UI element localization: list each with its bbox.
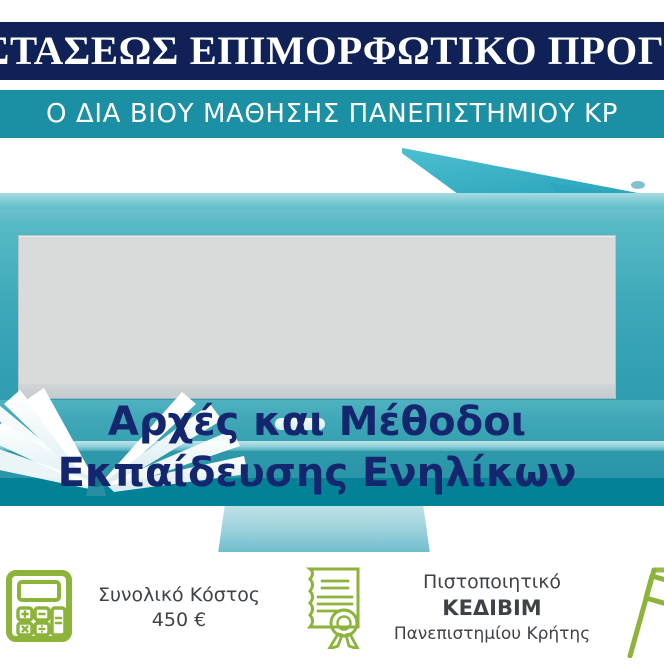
poster-root: ΟΣΤΑΣΕΩΣ ΕΠΙΜΟΡΦΩΤΙΚΟ ΠΡΟΓΡΑ Ο ΔΙΑ ΒΙΟΥ …	[0, 0, 664, 664]
navy-banner-text: ΟΣΤΑΣΕΩΣ ΕΠΙΜΟΡΦΩΤΙΚΟ ΠΡΟΓΡΑ	[0, 31, 664, 71]
certificate-label-top: Πιστοποιητικό	[370, 570, 614, 595]
total-cost-label: Συνολικό Κόστος	[74, 583, 284, 608]
monitor-top-gloss	[0, 193, 664, 209]
calculator-icon	[4, 569, 74, 647]
certificate-text-group: Πιστοποιητικό ΚΕΔΙΒΙΜ Πανεπιστημίου Κρήτ…	[370, 570, 614, 646]
feature-certificate: Πιστοποιητικό ΚΕΔΙΒΙΜ Πανεπιστημίου Κρήτ…	[296, 556, 614, 660]
teal-banner: Ο ΔΙΑ ΒΙΟΥ ΜΑΘΗΣΗΣ ΠΑΝΕΠΙΣΤΗΜΙΟΥ ΚΡ	[0, 90, 664, 138]
navy-banner: ΟΣΤΑΣΕΩΣ ΕΠΙΜΟΡΦΩΤΙΚΟ ΠΡΟΓΡΑ	[0, 22, 664, 80]
flag-icon	[624, 566, 664, 658]
feature-total-cost: Συνολικό Κόστος 450 €	[4, 560, 284, 656]
certificate-label-main: ΚΕΔΙΒΙΜ	[370, 595, 614, 623]
certificate-label-bottom: Πανεπιστημίου Κρήτης	[370, 623, 614, 646]
teal-banner-text: Ο ΔΙΑ ΒΙΟΥ ΜΑΘΗΣΗΣ ΠΑΝΕΠΙΣΤΗΜΙΟΥ ΚΡ	[46, 101, 618, 127]
total-cost-text-group: Συνολικό Κόστος 450 €	[74, 583, 284, 634]
open-book-icon	[0, 378, 312, 508]
monitor-stand	[216, 506, 432, 552]
certificate-icon	[296, 563, 370, 653]
total-cost-value: 450 €	[74, 608, 284, 633]
monitor-screen	[18, 235, 616, 385]
illustration-area: Αρχές και Μέθοδοι Εκπαίδευσης Ενηλίκων	[0, 138, 664, 552]
